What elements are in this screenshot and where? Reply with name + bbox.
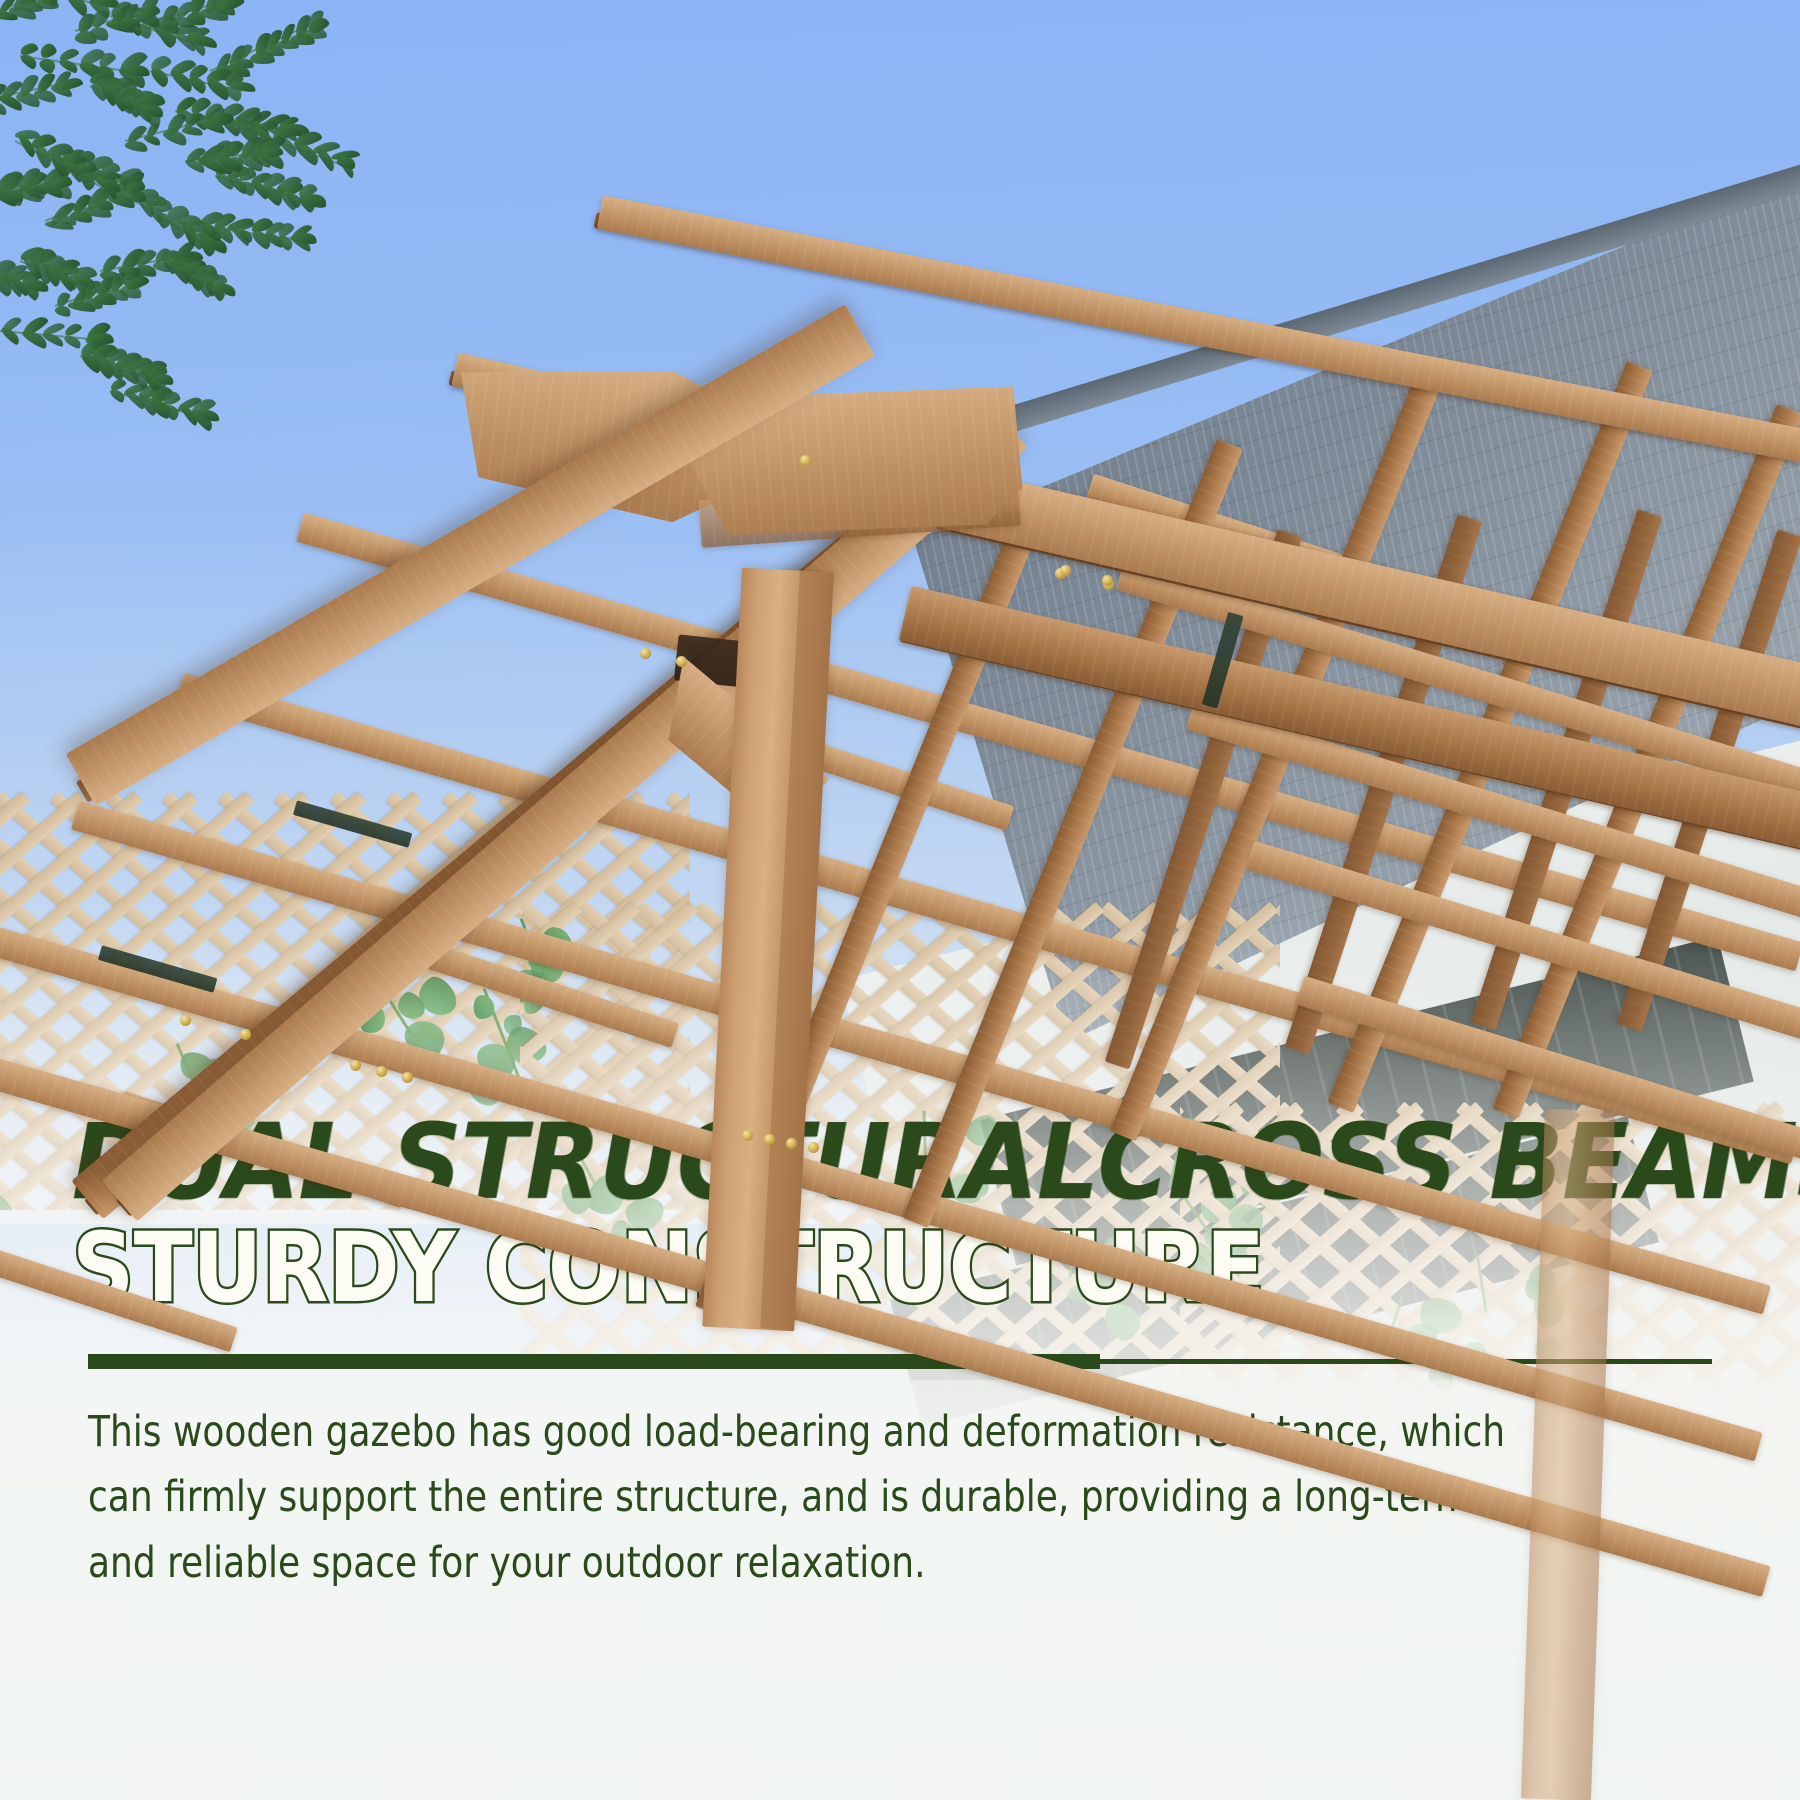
screw-head — [764, 1134, 775, 1145]
screw-head — [640, 648, 651, 659]
body-paragraph: This wooden gazebo has good load-bearing… — [88, 1400, 1613, 1596]
screw-head — [786, 1138, 797, 1149]
screw-head — [1102, 575, 1113, 586]
screw-head — [376, 1066, 387, 1077]
screw-head — [180, 1015, 191, 1026]
screw-head — [742, 1130, 753, 1141]
screw-head — [1060, 565, 1071, 576]
screw-head — [676, 656, 687, 667]
product-feature-banner: DUAL STRUCTURALCROSS BEAMS STURDY CONSTR… — [0, 0, 1800, 1800]
screw-head — [808, 1142, 819, 1153]
screw-head — [800, 455, 811, 466]
screw-head — [240, 1029, 251, 1040]
body-line: and reliable space for your outdoor rela… — [88, 1531, 1613, 1596]
screw-head — [402, 1072, 413, 1083]
metal-joint-plate — [293, 800, 412, 847]
screw-head — [350, 1060, 361, 1071]
